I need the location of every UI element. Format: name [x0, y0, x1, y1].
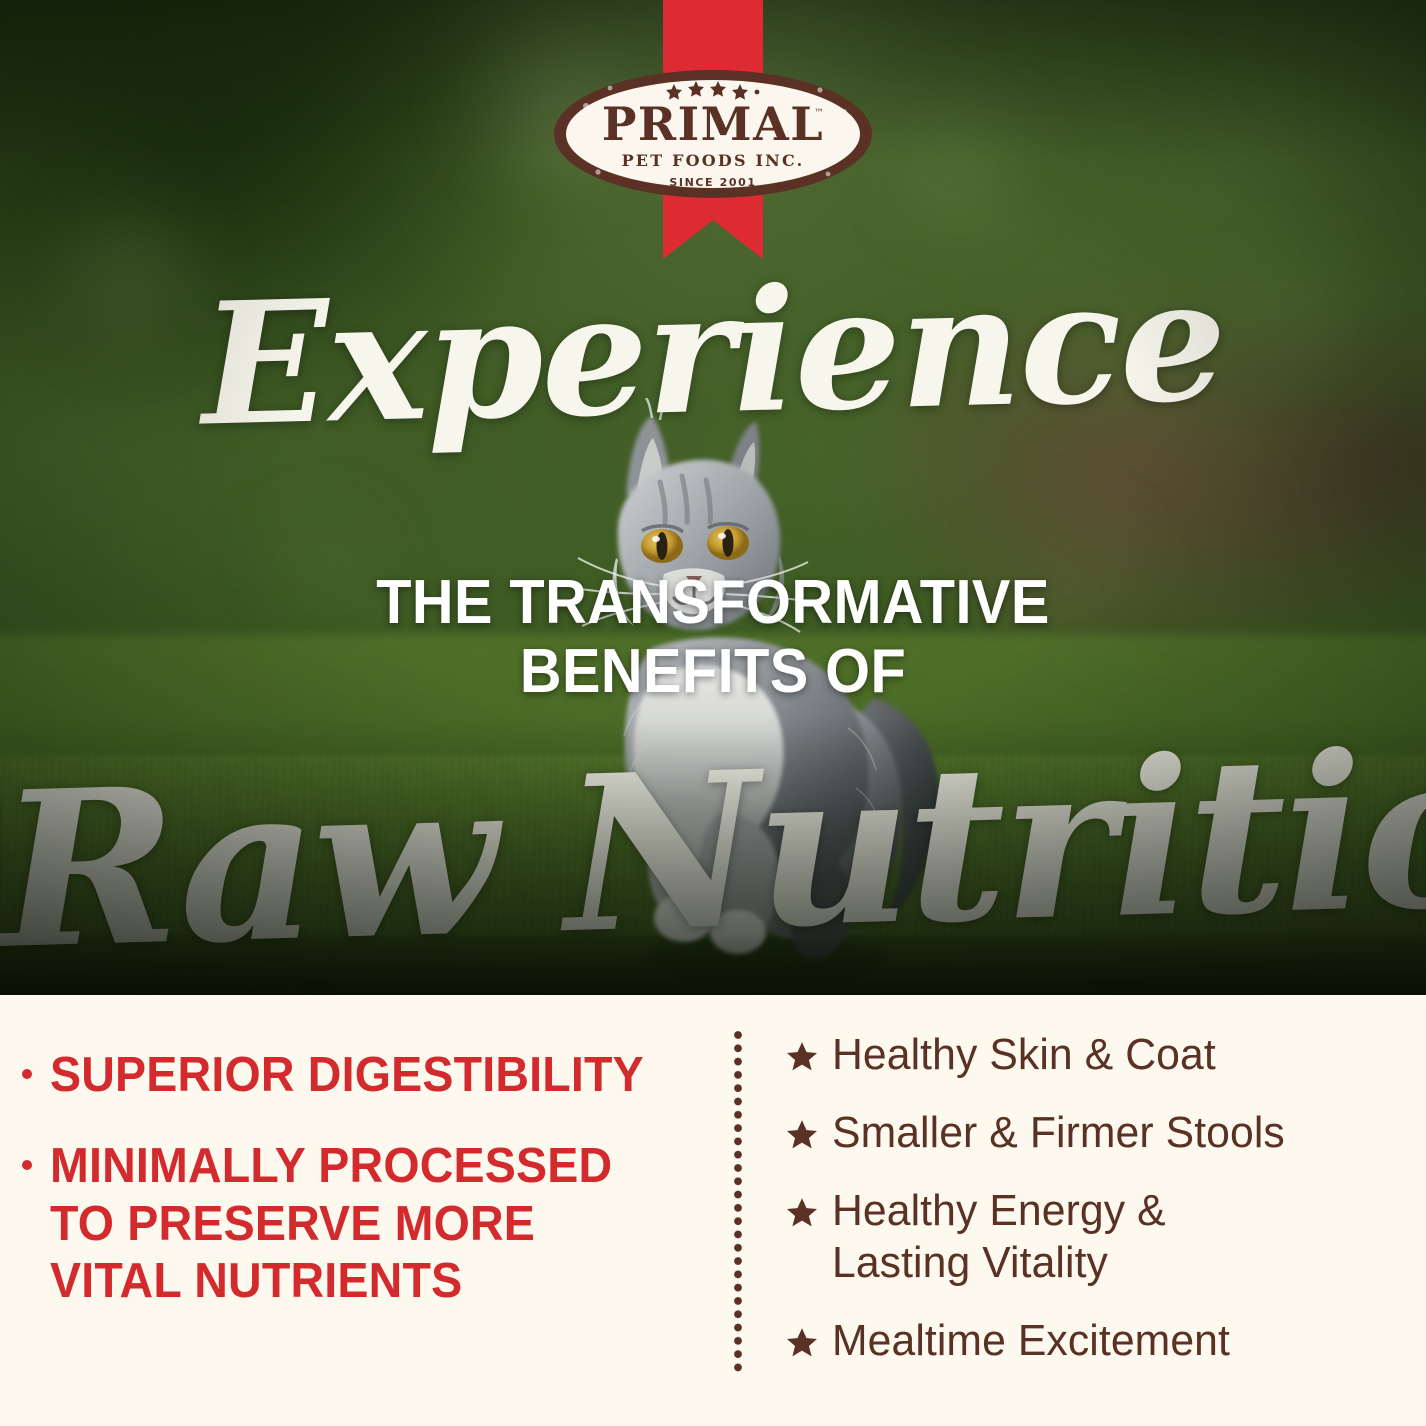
bullet-dot-icon	[22, 1069, 32, 1079]
list-item-label: Healthy Skin & Coat	[832, 1029, 1216, 1081]
star-icon	[785, 1326, 819, 1360]
star-icon	[785, 1118, 819, 1152]
star-icon	[785, 1196, 819, 1230]
list-item-label: Mealtime Excitement	[832, 1315, 1230, 1367]
list-item: MINIMALLY PROCESSED TO PRESERVE MORE VIT…	[22, 1138, 702, 1310]
dotted-divider	[733, 1030, 743, 1375]
promo-poster: Experience THE TRANSFORMATIVE BENEFITS O…	[0, 0, 1426, 1426]
hero-photo: Experience THE TRANSFORMATIVE BENEFITS O…	[0, 0, 1426, 995]
primal-logo: PRIMAL PET FOODS INC. SINCE 2001 ™	[552, 68, 874, 201]
bullet-dot-icon	[22, 1160, 32, 1170]
list-item: SUPERIOR DIGESTIBILITY	[22, 1047, 702, 1104]
svg-text:PRIMAL: PRIMAL	[602, 97, 824, 151]
benefits-left-column: SUPERIOR DIGESTIBILITY MINIMALLY PROCESS…	[22, 1047, 702, 1344]
svg-text:SINCE 2001: SINCE 2001	[669, 176, 756, 189]
star-icon	[785, 1040, 819, 1074]
list-item-label: MINIMALLY PROCESSED TO PRESERVE MORE VIT…	[50, 1138, 669, 1310]
list-item-label: SUPERIOR DIGESTIBILITY	[50, 1047, 644, 1104]
list-item: Healthy Energy & Lasting Vitality	[785, 1185, 1405, 1289]
list-item-label: Healthy Energy & Lasting Vitality	[832, 1185, 1166, 1289]
svg-text:PET FOODS INC.: PET FOODS INC.	[622, 151, 805, 170]
list-item: Smaller & Firmer Stools	[785, 1107, 1405, 1159]
benefits-panel: SUPERIOR DIGESTIBILITY MINIMALLY PROCESS…	[0, 995, 1426, 1426]
benefits-right-column: Healthy Skin & Coat Smaller & Firmer Sto…	[785, 1029, 1405, 1393]
list-item-label: Smaller & Firmer Stools	[832, 1107, 1285, 1159]
list-item: Mealtime Excitement	[785, 1315, 1405, 1367]
list-item: Healthy Skin & Coat	[785, 1029, 1405, 1081]
svg-text:™: ™	[814, 108, 824, 119]
